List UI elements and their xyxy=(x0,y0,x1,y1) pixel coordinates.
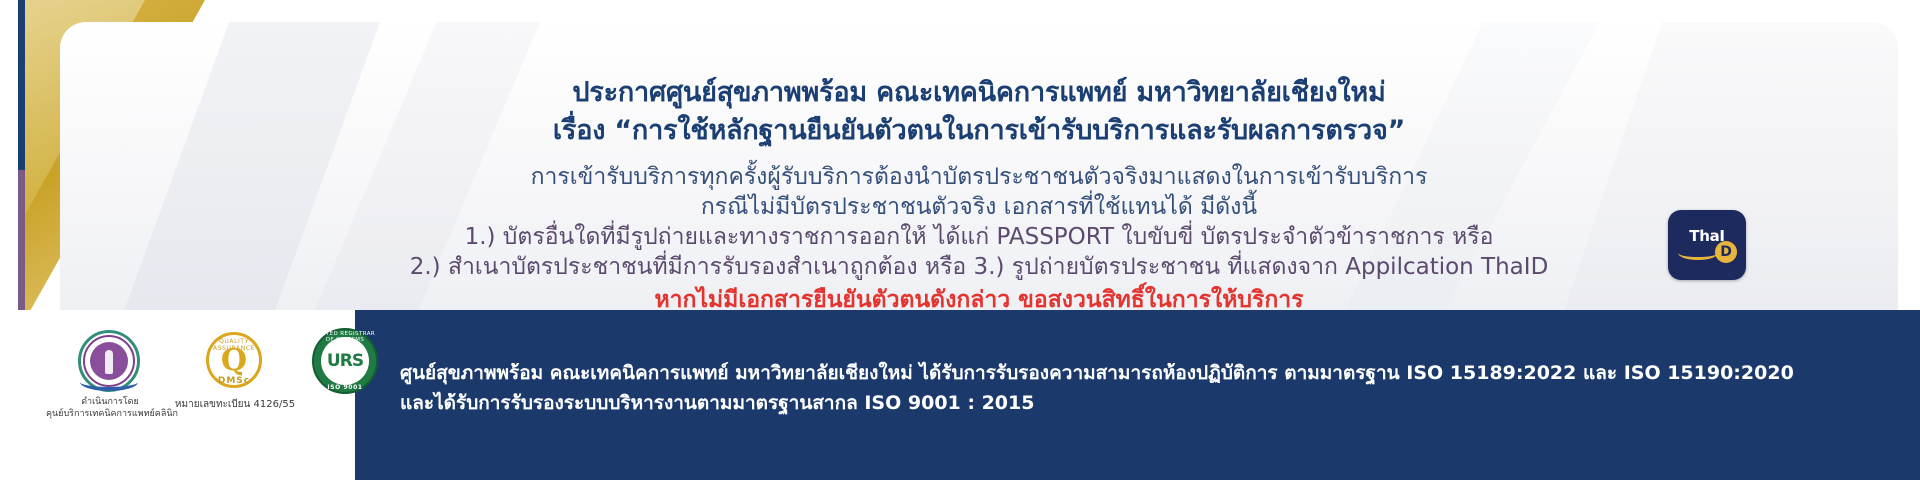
urs-bottom-text: ISO 9001 xyxy=(312,384,378,391)
headline-line-1: ประกาศศูนย์สุขภาพพร้อม คณะเทคนิคการแพทย์… xyxy=(60,74,1898,112)
edge-stripe-blue xyxy=(18,0,25,170)
cmu-caption: ดำเนินการโดย คุนย์บริการเทคนิคการแพทย์คล… xyxy=(60,396,160,420)
thaid-badge-letter: D xyxy=(1715,241,1737,263)
content-card: ประกาศศูนย์สุขภาพพร้อม คณะเทคนิคการแพทย์… xyxy=(60,22,1898,310)
thaid-swoosh-icon xyxy=(1678,246,1718,260)
footer: ดำเนินการโดย คุนย์บริการเทคนิคการแพทย์คล… xyxy=(0,310,1920,480)
footer-line-2: และได้รับการรับรองระบบบริหารงานตามมาตรฐา… xyxy=(400,388,1880,418)
urs-seal-icon: UNITED REGISTRAR OF SYSTEMS URS ISO 9001 xyxy=(312,328,378,394)
thaid-wordmark: ThaI xyxy=(1668,227,1746,245)
certification-logos: ดำเนินการโดย คุนย์บริการเทคนิคการแพทย์คล… xyxy=(60,324,360,474)
body-line-item-1: 1.) บัตรอื่นใดที่มีรูปถ่ายและทางราชการออ… xyxy=(60,222,1898,252)
cmu-caption-line-1: ดำเนินการโดย xyxy=(60,396,160,408)
dmsc-bottom-text: DMSc xyxy=(206,376,262,386)
cmu-seal-icon xyxy=(78,330,140,392)
dmsc-q-seal-icon: QUALITY ASSURANCE Q DMSc xyxy=(206,332,262,388)
body-line-1: การเข้ารับบริการทุกครั้งผู้รับบริการต้อง… xyxy=(60,162,1898,192)
body-line-2: กรณีไม่มีบัตรประชาชนตัวจริง เอกสารที่ใช้… xyxy=(60,192,1898,222)
body-line-item-2: 2.) สำเนาบัตรประชาชนที่มีการรับรองสำเนาถ… xyxy=(60,252,1898,282)
dmsc-caption: หมายเลขทะเบียน 4126/55 xyxy=(170,398,300,411)
body-block: การเข้ารับบริการทุกครั้งผู้รับบริการต้อง… xyxy=(60,162,1898,310)
headline-block: ประกาศศูนย์สุขภาพพร้อม คณะเทคนิคการแพทย์… xyxy=(60,74,1898,150)
edge-stripe-purple xyxy=(18,170,25,310)
announcement-banner: ประกาศศูนย์สุขภาพพร้อม คณะเทคนิคการแพทย์… xyxy=(0,0,1920,480)
footer-text-block: ศูนย์สุขภาพพร้อม คณะเทคนิคการแพทย์ มหาวิ… xyxy=(400,358,1880,418)
footer-line-1: ศูนย์สุขภาพพร้อม คณะเทคนิคการแพทย์ มหาวิ… xyxy=(400,358,1880,388)
thaid-logo: ThaI D xyxy=(1668,210,1746,280)
dmsc-registration-number: หมายเลขทะเบียน 4126/55 xyxy=(170,398,300,411)
headline-line-2: เรื่อง “การใช้หลักฐานยืนยันตัวตนในการเข้… xyxy=(60,112,1898,150)
warning-line: หากไม่มีเอกสารยืนยันตัวตนดังกล่าว ขอสงวน… xyxy=(60,284,1898,310)
cmu-caption-line-2: คุนย์บริการเทคนิคการแพทย์คลินิก xyxy=(46,408,160,420)
